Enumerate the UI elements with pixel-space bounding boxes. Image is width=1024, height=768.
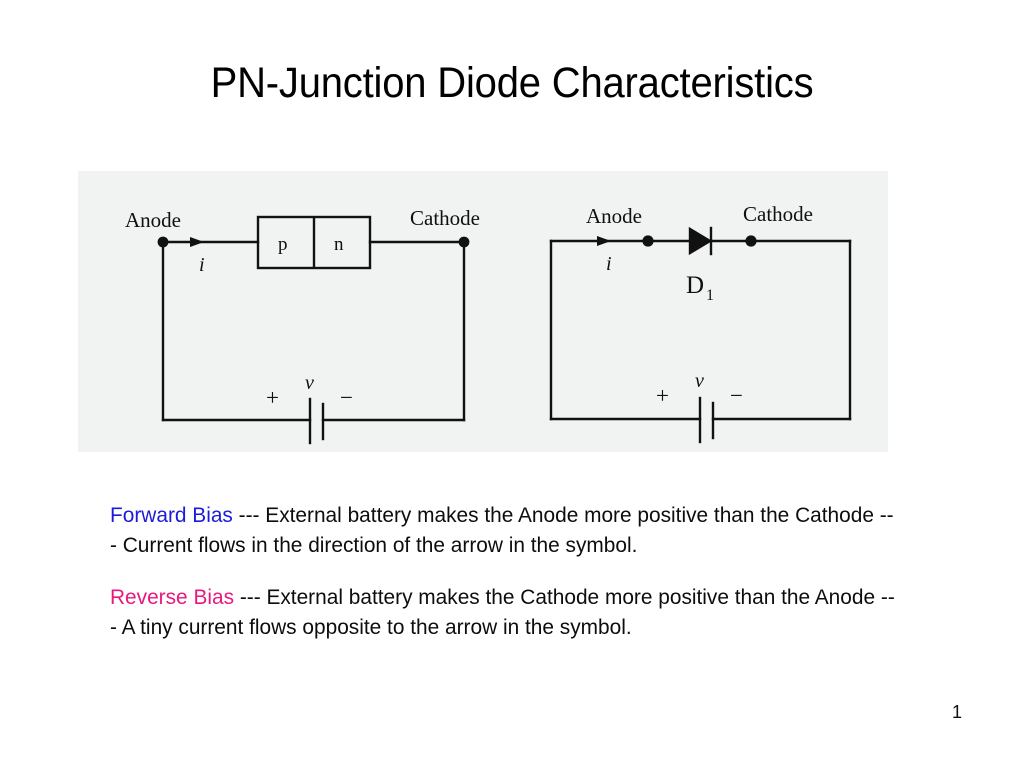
right-circuit-group: Anode Cathode i D 1 <box>551 202 850 442</box>
right-cathode-node-dot <box>745 235 756 246</box>
right-anode-node-dot <box>642 235 653 246</box>
left-current-arrowhead <box>190 237 204 247</box>
left-battery-plus: + <box>266 385 279 410</box>
description-block: Forward Bias --- External battery makes … <box>110 500 920 642</box>
right-battery-plus: + <box>656 383 669 408</box>
right-current-label: i <box>606 253 612 275</box>
right-current-arrowhead <box>597 236 611 246</box>
circuit-figure-panel: Anode Cathode i p n <box>78 171 888 452</box>
right-anode-label: Anode <box>586 204 642 228</box>
diode-designator-label: D <box>686 272 704 299</box>
n-region-label: n <box>334 234 344 255</box>
reverse-bias-lead: Reverse Bias <box>110 585 234 609</box>
right-battery-minus: − <box>730 383 743 408</box>
page-title: PN-Junction Diode Characteristics <box>36 60 988 107</box>
page-number: 1 <box>952 702 962 723</box>
reverse-bias-paragraph: Reverse Bias --- External battery makes … <box>110 582 896 642</box>
left-circuit-group: Anode Cathode i p n <box>125 206 480 443</box>
right-voltage-label: v <box>695 370 704 392</box>
diode-triangle-icon <box>690 229 710 253</box>
forward-bias-lead: Forward Bias <box>110 503 233 527</box>
diode-designator-subscript: 1 <box>706 287 714 304</box>
left-anode-label: Anode <box>125 208 181 232</box>
p-region-label: p <box>278 234 288 255</box>
left-voltage-label: v <box>305 372 314 394</box>
forward-bias-paragraph: Forward Bias --- External battery makes … <box>110 500 896 560</box>
left-battery-minus: − <box>340 385 353 410</box>
left-cathode-label: Cathode <box>410 206 480 230</box>
right-cathode-label: Cathode <box>743 202 813 226</box>
left-current-label: i <box>199 254 205 276</box>
